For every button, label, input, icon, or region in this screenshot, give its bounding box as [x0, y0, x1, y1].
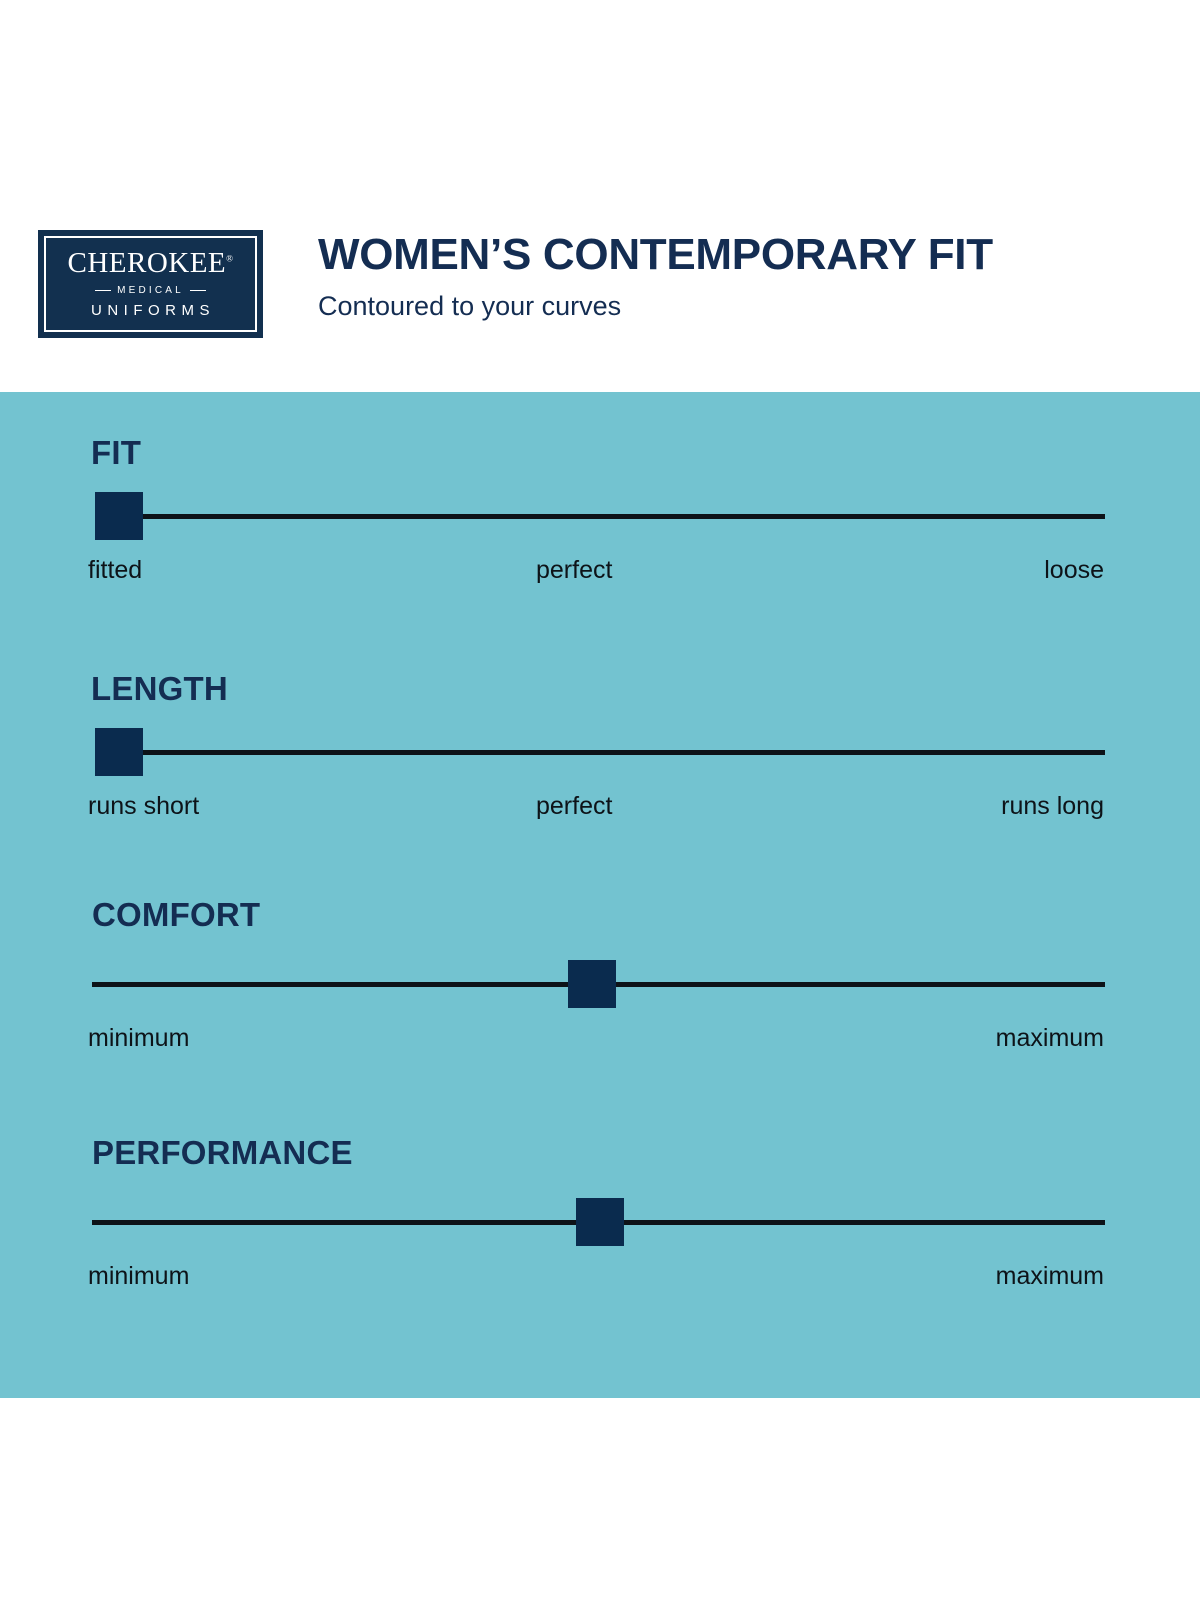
scale-comfort-marker[interactable]	[568, 960, 616, 1008]
scale-fit-label-mid: perfect	[536, 558, 612, 583]
cherokee-logo: CHEROKEE® MEDICAL UNIFORMS	[38, 230, 263, 338]
fit-guide-page: CHEROKEE® MEDICAL UNIFORMS WOMEN’S CONTE…	[0, 0, 1200, 1600]
fit-scales-panel: FIT fitted perfect loose LENGTH runs sho…	[0, 392, 1200, 1398]
scale-performance-label-right: maximum	[996, 1264, 1104, 1289]
scale-length-heading: LENGTH	[91, 670, 228, 708]
scale-length-labels: runs short perfect runs long	[0, 794, 1200, 834]
scale-performance-labels: minimum maximum	[0, 1264, 1200, 1304]
scale-performance-heading: PERFORMANCE	[92, 1134, 353, 1172]
scale-comfort-labels: minimum maximum	[0, 1026, 1200, 1066]
header: CHEROKEE® MEDICAL UNIFORMS WOMEN’S CONTE…	[0, 0, 1200, 392]
scale-length-track[interactable]	[95, 728, 1105, 778]
dash-left-icon	[95, 290, 111, 291]
scale-length-marker[interactable]	[95, 728, 143, 776]
scale-fit-heading: FIT	[91, 434, 141, 472]
logo-medical-row: MEDICAL	[95, 285, 206, 296]
scale-length-track-line	[143, 750, 1105, 755]
registered-trademark-icon: ®	[226, 253, 233, 263]
dash-right-icon	[190, 290, 206, 291]
title-block: WOMEN’S CONTEMPORARY FIT Contoured to yo…	[318, 232, 993, 322]
logo-uniforms-label: UNIFORMS	[86, 302, 215, 319]
scale-fit-track[interactable]	[95, 492, 1105, 542]
scale-performance-track[interactable]	[92, 1198, 1105, 1248]
scale-comfort-label-right: maximum	[996, 1026, 1104, 1051]
scale-comfort-label-left: minimum	[88, 1026, 189, 1051]
scale-performance-marker[interactable]	[576, 1198, 624, 1246]
scale-length-label-left: runs short	[88, 794, 199, 819]
scale-comfort-heading: COMFORT	[92, 896, 260, 934]
page-subtitle: Contoured to your curves	[318, 292, 993, 322]
scale-fit-label-right: loose	[1044, 558, 1104, 583]
scale-fit-track-line	[143, 514, 1105, 519]
scale-fit-labels: fitted perfect loose	[0, 558, 1200, 598]
logo-brand-name: CHEROKEE®	[67, 249, 233, 278]
scale-length-label-mid: perfect	[536, 794, 612, 819]
logo-medical-label: MEDICAL	[117, 285, 184, 296]
scale-performance-label-left: minimum	[88, 1264, 189, 1289]
logo-brand-text: CHEROKEE	[67, 247, 226, 279]
logo-inner-border: CHEROKEE® MEDICAL UNIFORMS	[44, 236, 257, 332]
scale-length-label-right: runs long	[1001, 794, 1104, 819]
scale-fit-marker[interactable]	[95, 492, 143, 540]
scale-comfort-track[interactable]	[92, 960, 1105, 1010]
page-title: WOMEN’S CONTEMPORARY FIT	[318, 232, 993, 278]
scale-fit-label-left: fitted	[88, 558, 142, 583]
